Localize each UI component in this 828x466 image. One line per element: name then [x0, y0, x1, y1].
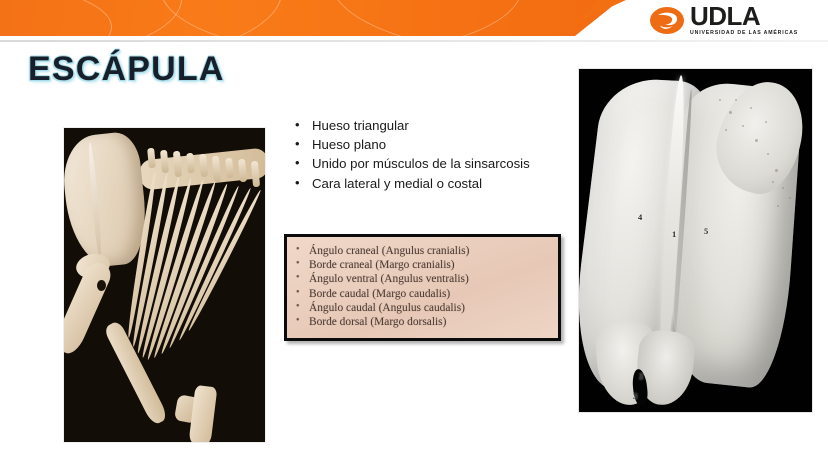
latin-term-item: Borde craneal (Margo cranialis): [287, 258, 558, 272]
latin-terminology-box-inner: Ángulo craneal (Angulus cranialis)Borde …: [287, 237, 558, 338]
metacarpus-bone: [189, 385, 218, 442]
bone-pore: [765, 121, 767, 123]
spinous-process: [147, 148, 156, 169]
bone-pore: [742, 125, 744, 127]
banner-swoosh-curve: [0, 0, 112, 40]
bone-label-1: 1: [672, 229, 676, 239]
scapula-blade-in-skeleton: [64, 130, 151, 269]
udla-swirl-mark-icon: [650, 7, 684, 34]
spinous-process: [160, 149, 169, 173]
latin-term-item: Ángulo caudal (Angulus caudalis): [287, 301, 558, 315]
bullet-list-items: Hueso triangularHueso planoUnido por mús…: [290, 116, 558, 193]
udla-logo: UDLA UNIVERSIDAD DE LAS AMÉRICAS: [650, 3, 822, 37]
bullet-item: Unido por músculos de la sinsarcosis: [290, 154, 558, 173]
udla-wordmark: UDLA: [690, 4, 760, 29]
latin-term-item: Ángulo craneal (Angulus cranialis): [287, 244, 558, 258]
bone-pore: [772, 181, 774, 183]
bone-label-5: 5: [704, 226, 708, 236]
banner-swoosh-curve: [0, 0, 182, 40]
scapula-bone-specimen-photo: 12345: [579, 69, 812, 412]
bone-pore: [719, 99, 721, 101]
bone-foramen: [97, 280, 106, 291]
bullet-item: Cara lateral y medial o costal: [290, 174, 558, 193]
header-divider-line: [0, 40, 828, 42]
bone-label-3: 3: [633, 391, 637, 401]
bone-pore: [735, 99, 737, 101]
latin-term-item: Borde dorsal (Margo dorsalis): [287, 315, 558, 329]
bone-pore: [782, 187, 784, 189]
bullet-item: Hueso plano: [290, 135, 558, 154]
skeleton-thorax-scapula-photo: [64, 128, 265, 442]
bone-pore: [755, 139, 758, 142]
udla-logo-text: UDLA UNIVERSIDAD DE LAS AMÉRICAS: [690, 4, 798, 36]
bone-pore: [775, 169, 778, 172]
bone-pore: [767, 153, 769, 155]
page-title: ESCÁPULA: [28, 50, 225, 89]
bone-label-4: 4: [638, 212, 642, 222]
bullet-item: Hueso triangular: [290, 116, 558, 135]
bone-pore: [750, 107, 752, 109]
bone-label-2: 2: [639, 371, 643, 381]
latin-terminology-box: Ángulo craneal (Angulus cranialis)Borde …: [284, 234, 561, 341]
spinous-process: [173, 151, 182, 178]
feature-bullet-list: Hueso triangularHueso planoUnido por mús…: [290, 116, 558, 193]
banner-swoosh-curve: [0, 0, 282, 40]
banner-swoosh-curve: [160, 0, 522, 40]
latin-term-items: Ángulo craneal (Angulus cranialis)Borde …: [287, 244, 558, 329]
latin-term-item: Ángulo ventral (Angulus ventralis): [287, 272, 558, 286]
bone-pore: [777, 205, 779, 207]
orange-banner-shape: [0, 0, 640, 36]
bone-pore: [725, 129, 727, 131]
latin-term-item: Borde caudal (Margo caudalis): [287, 287, 558, 301]
humerus-bone: [64, 259, 114, 357]
bone-pore: [729, 111, 732, 114]
udla-tagline: UNIVERSIDAD DE LAS AMÉRICAS: [690, 31, 798, 36]
bone-pore: [789, 197, 791, 199]
